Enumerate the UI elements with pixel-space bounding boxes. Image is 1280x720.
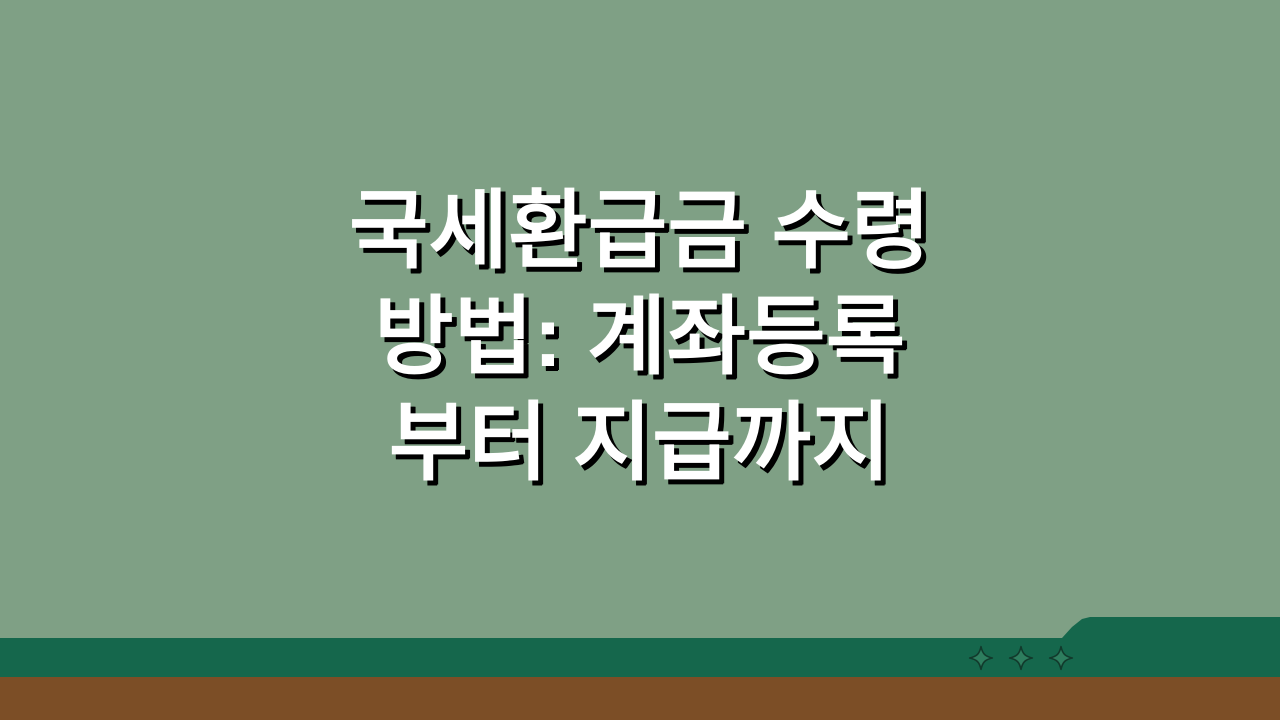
band-graphic xyxy=(0,600,1280,720)
diamond-sparkle-icon xyxy=(1048,645,1074,671)
green-band-shape xyxy=(0,617,1280,677)
diamond-sparkle-icon xyxy=(968,645,994,671)
diamond-sparkle-icon xyxy=(1008,645,1034,671)
title-line-1: 국세환급금 수령 xyxy=(0,178,1280,284)
title-line-3: 부터 지급까지 xyxy=(0,390,1280,496)
thumbnail-canvas: 국세환급금 수령 방법: 계좌등록 부터 지급까지 xyxy=(0,0,1280,720)
brown-base-bar xyxy=(0,677,1280,720)
bottom-decoration xyxy=(0,600,1280,720)
title-line-2: 방법: 계좌등록 xyxy=(0,284,1280,390)
sparkle-group xyxy=(968,642,1084,674)
page-title: 국세환급금 수령 방법: 계좌등록 부터 지급까지 xyxy=(0,178,1280,496)
